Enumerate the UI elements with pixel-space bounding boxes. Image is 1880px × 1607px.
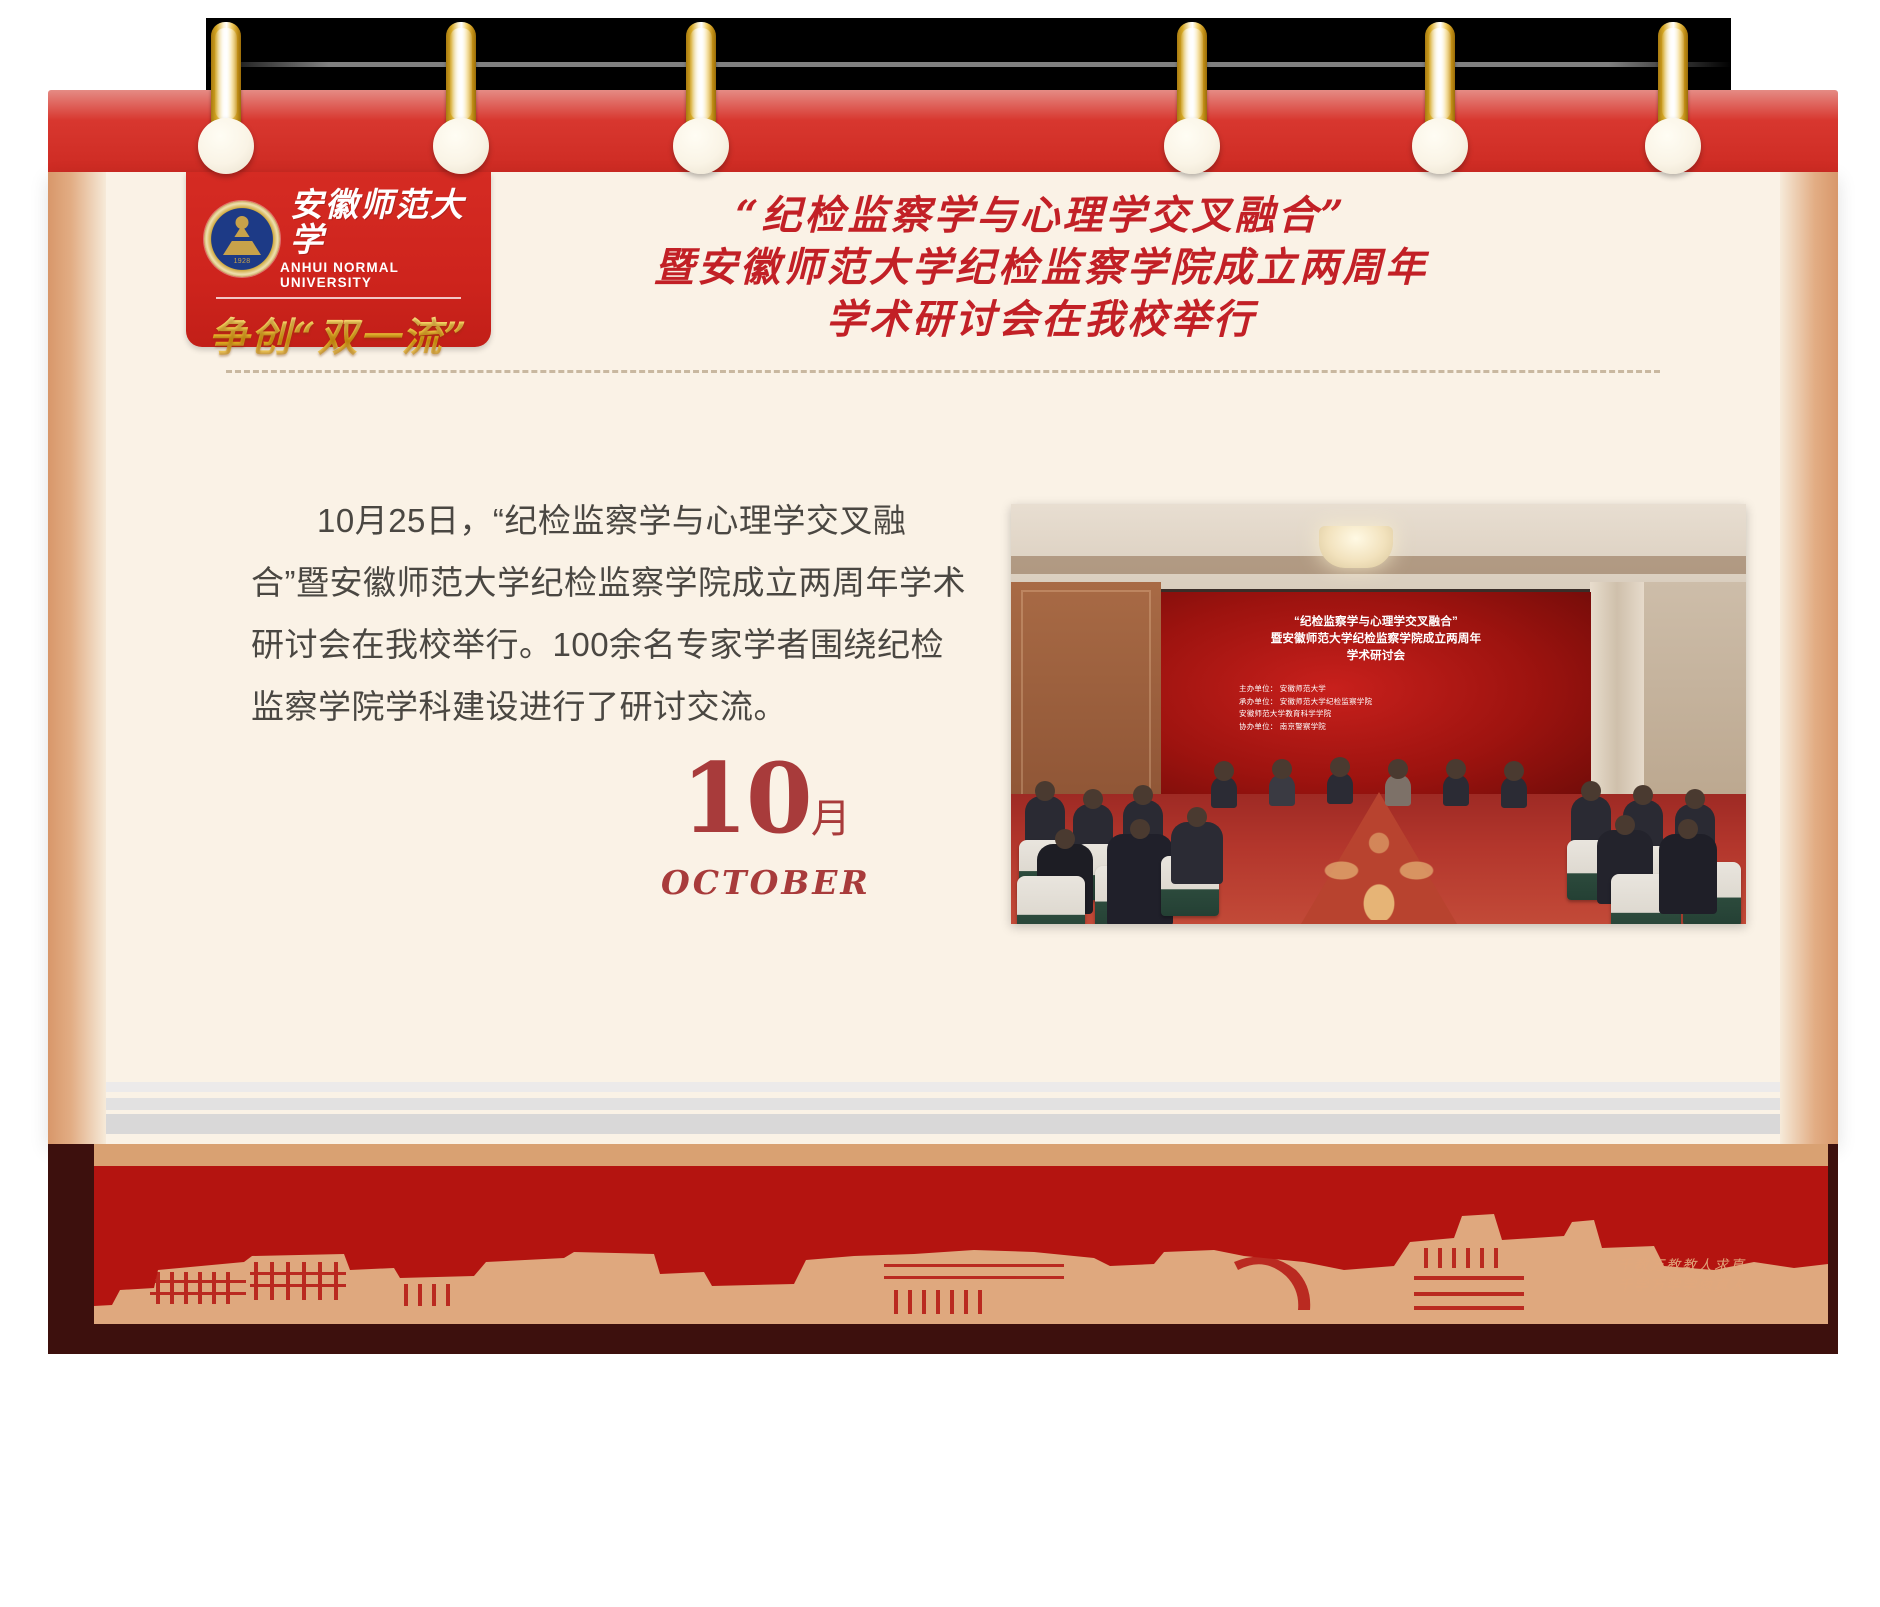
audience-person (1659, 834, 1717, 914)
date-month-english: OCTOBER (661, 863, 871, 902)
chandelier (1319, 526, 1393, 568)
binding-ring-4 (1177, 22, 1207, 150)
panelist (1327, 772, 1353, 804)
motto-line-1: 千教万教教人求真 (1618, 1256, 1746, 1276)
university-name-cn: 安徽师范大学 (290, 188, 491, 257)
motto-line-2: 千学万学学做真人 (1618, 1276, 1746, 1296)
date-stamp: 10月 OCTOBER (661, 757, 871, 902)
campus-skyline-illustration (94, 1204, 1828, 1324)
shelf-line-3 (106, 1114, 1780, 1134)
header-red-band (48, 90, 1838, 174)
page-frame-right (1780, 172, 1838, 1144)
binding-ring-2 (446, 22, 476, 150)
headline: “纪检监察学与心理学交叉融合” 暨安徽师范大学纪检监察学院成立两周年 学术研讨会… (526, 190, 1556, 346)
carpet-pattern (1304, 810, 1454, 920)
university-seal-icon: 1928 (204, 201, 280, 277)
footer-baseline (48, 1324, 1838, 1354)
panelist (1385, 774, 1411, 806)
headline-line-3: 学术研讨会在我校举行 (526, 294, 1556, 346)
panelist (1211, 776, 1237, 808)
backdrop-org-1: 主办单位： 安徽师范大学 (1239, 683, 1591, 696)
article-paragraph: 10月25日，“纪检监察学与心理学交叉融合”暨安徽师范大学纪检监察学院成立两周年… (251, 490, 971, 738)
university-slogan: 争创“双一流” (186, 305, 491, 363)
event-photo: “纪检监察学与心理学交叉融合” 暨安徽师范大学纪检监察学院成立两周年 学术研讨会… (1011, 504, 1746, 924)
calendar-page: 1928 安徽师范大学 ANHUI NORMAL UNIVERSITY 争创“双… (0, 0, 1880, 1607)
shelf-line-1 (106, 1082, 1780, 1092)
audience-chair (1017, 876, 1085, 924)
backdrop-line-2: 暨安徽师范大学纪检监察学院成立两周年 (1161, 631, 1591, 648)
binding-ring-6 (1658, 22, 1688, 150)
panelist (1501, 776, 1527, 808)
footer-edge-left (48, 1144, 94, 1354)
page-sheet: 1928 安徽师范大学 ANHUI NORMAL UNIVERSITY 争创“双… (48, 172, 1838, 1144)
school-motto: 千教万教教人求真 千学万学学做真人 (1618, 1256, 1746, 1296)
binding-ring-1 (211, 22, 241, 150)
headline-line-2: 暨安徽师范大学纪检监察学院成立两周年 (526, 242, 1556, 294)
page-frame-left (48, 172, 106, 1144)
binding-ring-3 (686, 22, 716, 150)
plaque-divider (216, 297, 461, 299)
backdrop-org-3: 安徽师范大学教育科学学院 (1239, 708, 1591, 721)
date-month-unit: 月 (811, 796, 851, 842)
backdrop-org-2: 承办单位： 安徽师范大学纪检监察学院 (1239, 696, 1591, 709)
footer-edge-right (1828, 1144, 1838, 1354)
panelist (1269, 774, 1295, 806)
footer-skyline-band: 千教万教教人求真 千学万学学做真人 (48, 1144, 1838, 1354)
page-content: 1928 安徽师范大学 ANHUI NORMAL UNIVERSITY 争创“双… (106, 172, 1780, 1144)
backdrop-line-1: “纪检监察学与心理学交叉融合” (1161, 614, 1591, 631)
date-month-number: 10 (681, 742, 811, 855)
panelist (1443, 774, 1469, 806)
binding-ring-5 (1425, 22, 1455, 150)
headline-line-1: “纪检监察学与心理学交叉融合” (526, 190, 1556, 242)
audience-person (1171, 822, 1223, 884)
university-name-en: ANHUI NORMAL UNIVERSITY (280, 260, 491, 290)
article-body: 10月25日，“纪检监察学与心理学交叉融合”暨安徽师范大学纪检监察学院成立两周年… (251, 490, 971, 738)
backdrop-org-4: 协办单位： 南京警察学院 (1239, 721, 1591, 734)
backdrop-line-3: 学术研讨会 (1161, 648, 1591, 665)
seal-year: 1928 (204, 258, 280, 265)
shelf-line-2 (106, 1098, 1780, 1110)
dashed-divider (226, 370, 1660, 373)
university-logo-plaque: 1928 安徽师范大学 ANHUI NORMAL UNIVERSITY 争创“双… (186, 172, 491, 347)
